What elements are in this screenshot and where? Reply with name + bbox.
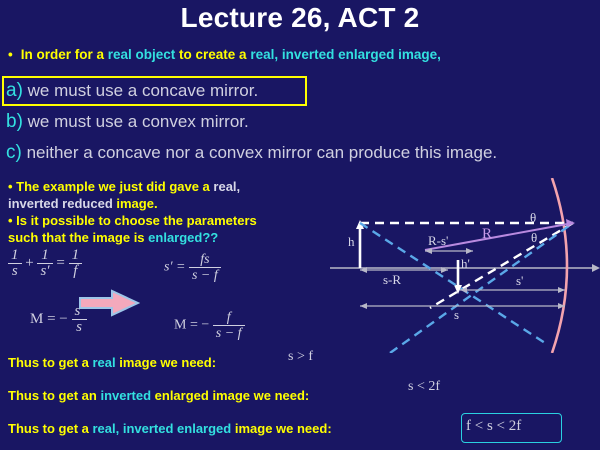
fraction-1-over-s: 1 s [8, 248, 22, 279]
explanation-line-1b: real, [213, 179, 240, 194]
label-theta-bottom: θ [531, 230, 537, 246]
conclusion-2-key: inverted [100, 388, 151, 403]
label-theta-top: θ [530, 210, 536, 226]
frac-den: f [69, 264, 83, 279]
explanation-line-2: inverted reduced image. [8, 195, 338, 212]
dim-arrow-right [466, 248, 473, 254]
question-part-3: to create a [175, 47, 250, 62]
choice-item-b[interactable]: b) we must use a convex mirror. [6, 111, 249, 133]
eq3-lhs: M = − [30, 311, 68, 327]
choice-item-c[interactable]: c) neither a concave nor a convex mirror… [6, 142, 497, 164]
fraction-1-over-f: 1 f [69, 248, 83, 279]
label-s-prime: s' [516, 273, 523, 289]
choice-a-text: we must use a concave mirror. [28, 81, 259, 100]
conclusion-line-1: Thus to get a real image we need: [8, 355, 216, 370]
equation-s-prime-solved: s′ = fs s − f [164, 252, 221, 283]
explanation-block: • The example we just did gave a real, i… [8, 178, 338, 246]
frac-num: 1 [8, 248, 22, 264]
label-s-minus-R: s-R [383, 272, 401, 288]
conclusion-3-key: real, inverted enlarged [93, 421, 232, 436]
fraction-f-over-s-minus-f: f s − f [213, 310, 245, 341]
equation-magnification-solved: M = − f s − f [174, 310, 245, 341]
explanation-line-1: • The example we just did gave a real, [8, 178, 338, 195]
fraction-1-over-s-prime: 1 s′ [37, 248, 52, 279]
choice-a-label: a) [6, 80, 23, 101]
explanation-line-2b: image. [116, 196, 157, 211]
page-title: Lecture 26, ACT 2 [0, 2, 600, 34]
ray-diagram: h h' s-R R-s' R s' s θ θ [330, 178, 600, 353]
eq2-lhs: s′ = [164, 260, 185, 275]
choice-b-label: b) [6, 111, 23, 132]
frac-num: 1 [69, 248, 83, 264]
conclusion-2-pre: Thus to get an [8, 388, 100, 403]
conclusion-3-post: image we need: [231, 421, 331, 436]
conclusion-1-key: real [93, 355, 116, 370]
conclusion-3-pre: Thus to get a [8, 421, 93, 436]
conclusion-1-post: image we need: [116, 355, 216, 370]
frac-den: s′ [37, 264, 52, 279]
condition-s-less-2f: s < 2f [408, 379, 440, 395]
choice-b-text: we must use a convex mirror. [28, 112, 249, 131]
label-h: h [348, 234, 355, 250]
condition-s-greater-f: s > f [288, 349, 313, 365]
question-part-4: real, inverted enlarged image, [250, 47, 441, 62]
condition-f-less-s-less-2f: f < s < 2f [466, 418, 521, 435]
choice-item-a[interactable]: a) we must use a concave mirror. [6, 80, 258, 102]
question-line: •In order for a real object to create a … [8, 47, 598, 62]
implication-arrow-icon [78, 288, 140, 318]
explanation-line-4a: such that the image is [8, 230, 148, 245]
question-part-1: In order for a [21, 47, 108, 62]
dim-arrow-right [558, 287, 565, 293]
equation-lens-formula: 1 s + 1 s′ = 1 f [8, 248, 82, 279]
frac-num: 1 [37, 248, 52, 264]
label-h-prime: h' [461, 256, 470, 272]
frac-den: s [8, 264, 22, 279]
eq1-operator-plus: + [25, 255, 33, 271]
frac-num: fs [189, 252, 221, 268]
eq4-lhs: M = − [174, 318, 209, 333]
explanation-line-4b: enlarged?? [148, 230, 218, 245]
eq1-operator-equals: = [56, 255, 64, 271]
bullet-icon: • [8, 47, 13, 62]
explanation-line-4: such that the image is enlarged?? [8, 229, 338, 246]
label-R-minus-s-prime: R-s' [428, 233, 448, 249]
label-s: s [454, 307, 459, 323]
conclusion-line-2: Thus to get an inverted enlarged image w… [8, 388, 309, 403]
slide-canvas: Lecture 26, ACT 2 •In order for a real o… [0, 0, 600, 450]
conclusion-1-pre: Thus to get a [8, 355, 93, 370]
explanation-line-1a: • The example we just did gave a [8, 179, 213, 194]
choice-c-text: neither a concave nor a convex mirror ca… [27, 143, 498, 162]
conclusion-line-3: Thus to get a real, inverted enlarged im… [8, 421, 332, 436]
label-R: R [482, 226, 492, 243]
explanation-line-2a: inverted reduced [8, 196, 116, 211]
conclusion-2-post: enlarged image we need: [151, 388, 309, 403]
concave-mirror-arc [552, 178, 567, 353]
frac-den: s [72, 320, 87, 335]
frac-den: s − f [189, 268, 221, 283]
question-part-2: real object [108, 47, 176, 62]
explanation-line-3: • Is it possible to choose the parameter… [8, 212, 338, 229]
choice-c-label: c) [6, 142, 22, 163]
dim-arrow-left [360, 303, 367, 309]
equations-block: 1 s + 1 s′ = 1 f s′ = fs s − f M = − [4, 248, 334, 348]
frac-den: s − f [213, 326, 245, 341]
axis-arrowhead [592, 264, 600, 272]
frac-num: f [213, 310, 245, 326]
fraction-fs-over-s-minus-f: fs s − f [189, 252, 221, 283]
